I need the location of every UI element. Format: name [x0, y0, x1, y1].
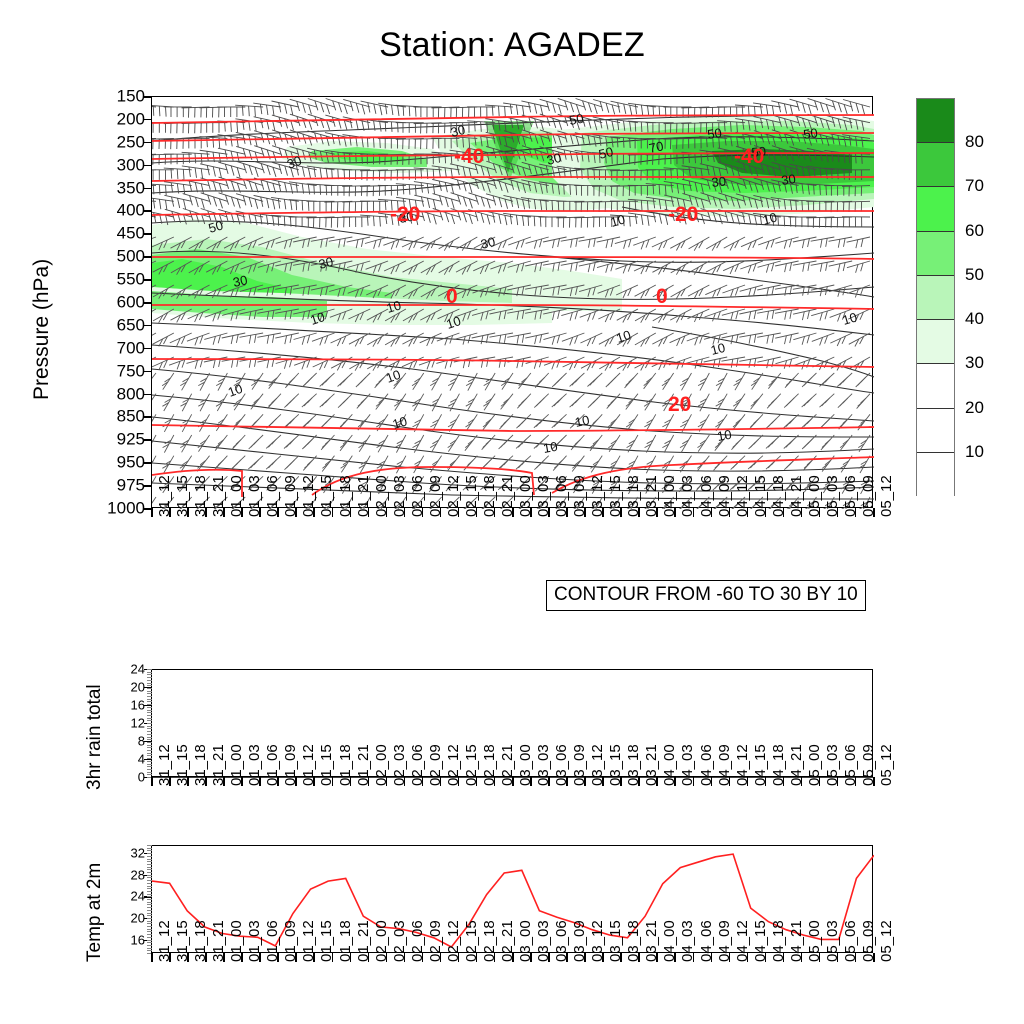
wind-barb-flag — [784, 216, 785, 226]
wind-barb-flag — [802, 240, 804, 249]
wind-barb-flag — [815, 101, 818, 111]
main-time-height-panel[interactable]: 30 50 30 30 30 30 50 50 70 50 50 50 30 3… — [151, 96, 873, 508]
wind-barb-flag — [808, 262, 810, 271]
y-tick-mark — [143, 233, 152, 235]
y-tick-label: 20 — [100, 681, 145, 694]
wind-barb-flag — [554, 380, 559, 385]
wind-barb-flag — [767, 335, 769, 344]
y-minor-tick — [147, 945, 152, 946]
wind-barb-flag — [624, 240, 626, 248]
wind-barb-flag — [233, 443, 238, 448]
wind-barb-flag — [445, 182, 447, 192]
x-tick-mark — [295, 777, 297, 786]
wind-barb-shaft — [466, 414, 477, 431]
wind-barb-flag — [231, 336, 233, 344]
wind-barb-shaft — [829, 285, 852, 292]
y-minor-tick — [147, 899, 152, 900]
y-tick-mark — [143, 439, 152, 441]
wind-barb-flag — [838, 264, 840, 272]
x-tick-mark — [422, 777, 424, 786]
wind-barb-flag — [535, 336, 537, 344]
x-tick-mark — [440, 953, 442, 962]
wind-barb-shaft — [181, 456, 192, 473]
wind-barb-flag — [483, 443, 488, 448]
wind-barb-flag — [856, 265, 858, 273]
contour-note-box: CONTOUR FROM -60 TO 30 BY 10 — [546, 580, 866, 611]
y-tick-mark — [143, 371, 152, 373]
wind-barb-flag — [768, 463, 773, 468]
x-tick-mark — [873, 508, 875, 517]
wind-barb-shaft — [705, 285, 727, 295]
wind-barb-shaft — [432, 394, 442, 412]
wind-barb-flag — [608, 401, 613, 406]
y-tick-label: 150 — [80, 88, 145, 105]
wind-barb-flag — [606, 264, 608, 272]
svg-text:10: 10 — [841, 309, 859, 327]
wind-barb-flag — [481, 213, 484, 223]
wind-barb-flag — [843, 287, 845, 295]
y-minor-tick — [147, 737, 152, 738]
wind-barb-shaft — [200, 373, 210, 391]
wind-barb-flag — [796, 200, 797, 210]
y-tick-label: 450 — [80, 225, 145, 242]
wind-barb-flag — [558, 311, 560, 319]
y-tick-label: 400 — [80, 202, 145, 219]
y-minor-tick — [147, 940, 152, 941]
wind-barb-flag — [518, 463, 523, 468]
y-minor-tick — [147, 712, 152, 713]
svg-text:0: 0 — [446, 285, 458, 308]
wind-barb-flag — [421, 197, 423, 207]
wind-barb-flag — [641, 122, 642, 132]
y-tick-mark — [143, 142, 152, 144]
x-tick-mark — [350, 953, 352, 962]
wind-barb-flag — [333, 101, 336, 111]
y-minor-tick — [147, 880, 152, 881]
wind-barb-shaft — [793, 333, 816, 340]
wind-barb-flag — [427, 184, 428, 194]
wind-barb-flag — [536, 442, 541, 447]
wind-barb-flag — [861, 398, 866, 403]
wind-barb-flag — [754, 334, 756, 343]
wind-barb-flag — [367, 137, 368, 147]
wind-barb-flag — [260, 104, 261, 114]
wind-barb-shaft — [341, 456, 352, 473]
wind-barb-flag — [322, 380, 327, 385]
y-minor-tick — [147, 921, 152, 922]
wind-barb-flag — [368, 103, 370, 113]
svg-text:50: 50 — [706, 125, 722, 142]
x-tick-mark — [313, 508, 315, 517]
wind-barb-shaft — [752, 373, 763, 390]
wind-barb-shaft — [198, 435, 209, 452]
wind-barb-flag — [166, 185, 167, 195]
y-minor-tick — [147, 693, 152, 694]
wind-barb-flag — [269, 463, 274, 468]
wind-barb-flag — [213, 167, 215, 177]
wind-barb-shaft — [644, 373, 656, 389]
x-tick-mark — [350, 777, 352, 786]
wind-barb-flag — [849, 153, 850, 163]
x-tick-mark — [783, 777, 785, 786]
wind-barb-flag — [635, 214, 637, 224]
wind-barb-flag — [803, 263, 805, 272]
y-minor-tick — [147, 723, 152, 724]
wind-barb-shaft — [413, 373, 424, 390]
x-tick-mark — [187, 777, 189, 786]
x-tick-mark — [729, 508, 731, 517]
wind-barb-flag — [434, 215, 437, 225]
wind-barb-flag — [356, 240, 358, 248]
wind-barb-flag — [428, 213, 431, 223]
wind-barb-flag — [808, 311, 810, 319]
wind-barb-shaft — [152, 197, 174, 201]
wind-barb-shaft — [627, 414, 638, 431]
wind-barb-flag — [826, 104, 829, 114]
y-minor-tick — [147, 948, 152, 949]
x-tick-mark — [512, 953, 514, 962]
wind-barb-flag — [243, 164, 246, 174]
y-minor-tick — [147, 872, 152, 873]
wind-barb-flag — [273, 200, 275, 210]
svg-text:70: 70 — [648, 138, 665, 156]
wind-barb-flag — [554, 401, 559, 406]
wind-barb-shaft — [276, 357, 299, 364]
wind-barb-flag — [166, 107, 167, 117]
x-tick-mark — [313, 777, 315, 786]
wind-barb-flag — [172, 197, 174, 207]
wind-barb-flag — [249, 197, 252, 207]
svg-text:10: 10 — [609, 211, 627, 229]
wind-barb-flag — [307, 460, 312, 465]
wind-barb-flag — [358, 401, 363, 406]
wind-barb-shaft — [615, 237, 638, 244]
wind-barb-flag — [856, 153, 857, 163]
wind-barb-flag — [284, 360, 286, 368]
wind-barb-flag — [296, 183, 297, 193]
wind-barb-flag — [290, 217, 291, 227]
wind-barb-flag — [452, 214, 455, 224]
wind-barb-shaft — [331, 333, 353, 343]
wind-barb-flag — [606, 240, 608, 248]
wind-barb-flag — [255, 199, 258, 209]
wind-barb-flag — [539, 377, 544, 382]
wind-barb-shaft — [395, 394, 406, 411]
wind-barb-shaft — [646, 456, 656, 474]
wind-barb-flag — [767, 311, 769, 320]
y-tick-label: 28 — [100, 868, 145, 881]
rh-colorbar[interactable] — [916, 98, 955, 496]
x-tick-mark — [747, 777, 749, 786]
y-minor-tick — [147, 891, 152, 892]
x-tick-mark — [295, 953, 297, 962]
wind-barb-shaft — [847, 261, 870, 268]
wind-barb-flag — [273, 167, 276, 177]
x-tick-mark — [837, 508, 839, 517]
wind-barb-flag — [821, 239, 823, 248]
wind-barb-flag — [510, 214, 511, 224]
wind-barb-shaft — [698, 435, 709, 452]
wind-barb-shaft — [670, 333, 692, 343]
x-tick-mark — [223, 777, 225, 786]
svg-text:-40: -40 — [734, 145, 764, 168]
wind-barb-flag — [302, 200, 303, 210]
y-minor-tick — [147, 896, 152, 897]
wind-barb-flag — [768, 401, 773, 406]
wind-barb-flag — [749, 359, 751, 368]
wind-barb-flag — [572, 401, 577, 406]
y-tick-label: 975 — [80, 477, 145, 494]
wind-barb-flag — [504, 334, 506, 343]
wind-barb-flag — [797, 101, 800, 111]
y-minor-tick — [147, 710, 152, 711]
wind-barb-flag — [213, 336, 215, 344]
x-tick-mark — [747, 953, 749, 962]
wind-barb-flag — [159, 185, 160, 195]
wind-barb-flag — [826, 185, 827, 195]
wind-barb-flag — [536, 381, 541, 386]
wind-barb-flag — [499, 214, 501, 224]
x-tick-mark — [584, 508, 586, 517]
wind-barb-flag — [237, 199, 240, 209]
wind-barb-flag — [647, 122, 648, 132]
wind-barb-flag — [458, 195, 461, 205]
wind-barb-flag — [583, 101, 586, 111]
wind-barb-shaft — [700, 373, 709, 391]
wind-barb-flag — [385, 214, 386, 224]
y-minor-tick — [147, 918, 152, 919]
wind-barb-shaft — [758, 237, 781, 245]
svg-text:30: 30 — [479, 234, 497, 252]
wind-barb-shaft — [580, 333, 602, 343]
wind-barb-flag — [269, 401, 274, 406]
wind-barb-flag — [501, 442, 506, 447]
wind-barb-flag — [297, 101, 300, 111]
svg-text:-40: -40 — [454, 145, 484, 168]
x-tick-mark — [476, 777, 478, 786]
x-tick-mark — [368, 777, 370, 786]
wind-barb-flag — [201, 184, 203, 194]
svg-text:30: 30 — [711, 174, 727, 190]
svg-text:10: 10 — [574, 412, 591, 430]
y-minor-tick — [147, 869, 152, 870]
wind-barb-shaft — [751, 394, 763, 410]
wind-barb-flag — [177, 169, 178, 179]
colorbar-band — [917, 409, 954, 453]
wind-barb-shaft — [723, 261, 745, 271]
y-minor-tick — [147, 755, 152, 756]
wind-barb-flag — [152, 502, 153, 506]
wind-barb-flag — [767, 360, 769, 368]
x-tick-mark — [368, 508, 370, 517]
x-tick-mark — [783, 953, 785, 962]
x-tick-mark — [494, 508, 496, 517]
wind-barb-shaft — [437, 333, 460, 341]
y-minor-tick — [147, 699, 152, 700]
x-tick-mark — [205, 777, 207, 786]
x-tick-mark — [693, 508, 695, 517]
wind-barb-flag — [314, 184, 315, 194]
wind-barb-flag — [558, 239, 560, 248]
wind-barb-flag — [285, 104, 287, 114]
wind-barb-flag — [152, 399, 153, 403]
wind-barb-flag — [611, 239, 613, 247]
y-minor-tick — [147, 902, 152, 903]
x-tick-mark — [259, 953, 261, 962]
wind-barb-shaft — [152, 435, 156, 453]
x-tick-mark — [494, 953, 496, 962]
wind-barb-flag — [575, 311, 577, 319]
wind-barb-shaft — [572, 456, 584, 472]
x-tick-mark — [765, 777, 767, 786]
y-minor-tick — [147, 739, 152, 740]
wind-barb-flag — [243, 179, 246, 189]
wind-barb-flag — [208, 195, 211, 205]
y-minor-tick — [147, 888, 152, 889]
wind-barb-flag — [320, 185, 321, 195]
wind-barb-flag — [617, 137, 618, 147]
wind-barb-flag — [249, 359, 251, 368]
wind-barb-shaft — [322, 456, 334, 472]
wind-barb-flag — [286, 401, 291, 406]
y-tick-label: 350 — [80, 179, 145, 196]
svg-text:10: 10 — [614, 327, 632, 346]
wind-barb-flag — [304, 380, 309, 385]
wind-barb-flag — [840, 380, 845, 385]
colorbar-tick-label: 80 — [965, 132, 984, 152]
y-minor-tick — [147, 745, 152, 746]
svg-text:-20: -20 — [390, 203, 420, 226]
y-minor-tick — [147, 861, 152, 862]
wind-barb-shaft — [152, 456, 156, 474]
x-tick-mark — [801, 953, 803, 962]
wind-barb-flag — [226, 195, 229, 205]
y-tick-label: 24 — [100, 663, 145, 676]
y-tick-mark — [143, 302, 152, 304]
wind-barb-flag — [715, 463, 720, 468]
wind-barb-flag — [326, 185, 327, 195]
wind-barb-flag — [731, 359, 733, 368]
wind-barb-flag — [528, 216, 529, 226]
wind-barb-flag — [358, 380, 363, 385]
x-tick-mark — [277, 508, 279, 517]
x-tick-mark — [169, 953, 171, 962]
wind-barb-flag — [786, 381, 791, 386]
x-tick-mark — [765, 508, 767, 517]
wind-barb-flag — [594, 238, 596, 247]
y-tick-mark — [143, 279, 152, 281]
y-tick-label: 0 — [100, 771, 145, 784]
x-tick-mark — [674, 953, 676, 962]
main-plot-canvas: 30 50 30 30 30 30 50 50 70 50 50 50 30 3… — [152, 97, 874, 509]
wind-barb-flag — [183, 169, 184, 179]
x-tick-mark — [241, 508, 243, 517]
wind-barb-flag — [825, 440, 830, 445]
wind-barb-flag — [463, 213, 466, 223]
wind-barb-flag — [840, 422, 845, 427]
wind-barb-flag — [731, 336, 733, 345]
x-tick-mark — [313, 953, 315, 962]
x-tick-mark — [566, 508, 568, 517]
y-minor-tick — [147, 731, 152, 732]
wind-barb-flag — [623, 138, 624, 148]
wind-barb-flag — [559, 105, 562, 115]
wind-barb-shaft — [768, 373, 780, 389]
y-tick-label: 12 — [100, 717, 145, 730]
wind-barb-flag — [475, 195, 478, 205]
y-tick-label: 4 — [100, 753, 145, 766]
y-minor-tick — [147, 926, 152, 927]
wind-barb-shaft — [705, 309, 728, 317]
y-minor-tick — [147, 859, 152, 860]
wind-barb-flag — [398, 106, 399, 116]
wind-barb-flag — [458, 211, 461, 221]
wind-barb-flag — [469, 199, 472, 209]
wind-barb-flag — [219, 168, 221, 178]
svg-text:10: 10 — [709, 340, 727, 358]
wind-barb-shaft — [733, 414, 745, 430]
wind-barb-flag — [518, 442, 523, 447]
wind-barb-flag — [469, 214, 472, 224]
wind-barb-flag — [814, 184, 815, 194]
x-tick-mark — [711, 508, 713, 517]
wind-barb-flag — [233, 463, 238, 468]
wind-barb-flag — [820, 185, 821, 195]
x-tick-mark — [277, 953, 279, 962]
x-tick-mark — [386, 777, 388, 786]
wind-barb-flag — [536, 421, 541, 426]
wind-barb-flag — [858, 401, 863, 406]
x-tick-mark — [169, 777, 171, 786]
wind-barb-flag — [784, 240, 786, 248]
x-tick-mark — [169, 508, 171, 517]
wind-barb-shaft — [376, 394, 388, 410]
wind-barb-flag — [268, 442, 273, 447]
x-tick-mark — [783, 508, 785, 517]
wind-barb-flag — [255, 167, 258, 177]
wind-barb-flag — [540, 418, 545, 423]
wind-barb-flag — [267, 105, 268, 115]
wind-barb-flag — [267, 360, 269, 368]
wind-barb-flag — [190, 211, 193, 221]
y-minor-tick — [147, 910, 152, 911]
wind-barb-flag — [278, 216, 279, 226]
y-minor-tick — [147, 894, 152, 895]
wind-barb-shaft — [419, 357, 442, 365]
wind-barb-flag — [487, 358, 489, 367]
wind-barb-flag — [340, 380, 345, 385]
y-minor-tick — [147, 701, 152, 702]
wind-barb-flag — [802, 312, 804, 320]
wind-barb-flag — [322, 401, 327, 406]
wind-barb-flag — [593, 263, 595, 271]
wind-barb-shaft — [740, 261, 763, 269]
wind-barb-flag — [231, 166, 234, 176]
wind-barb-shaft — [635, 285, 656, 296]
wind-barb-shaft — [164, 414, 174, 432]
wind-barb-flag — [166, 200, 167, 210]
wind-barb-flag — [468, 335, 470, 343]
wind-barb-flag — [536, 401, 541, 406]
wind-barb-flag — [427, 198, 429, 208]
wind-barb-flag — [279, 103, 281, 113]
wind-barb-flag — [519, 401, 524, 406]
wind-barb-flag — [189, 167, 190, 177]
wind-barb-flag — [231, 197, 234, 207]
wind-barb-flag — [648, 216, 650, 226]
x-tick-mark — [386, 508, 388, 517]
x-tick-mark — [151, 953, 153, 962]
